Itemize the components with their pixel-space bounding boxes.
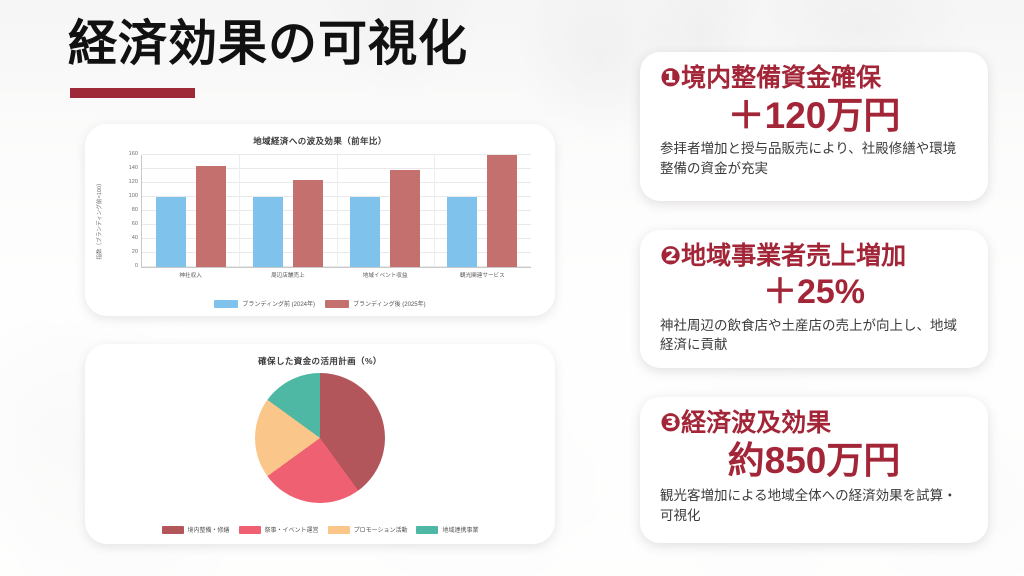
highlight-card-1: ❶境内整備資金確保 ＋120万円 参拝者増加と授与品販売により、社殿修繕や環境整… <box>640 52 988 201</box>
bar-chart-bars: 神社収入周辺店舗売上地域イベント収益観光関連サービス <box>142 155 531 267</box>
bar-group: 神社収入 <box>142 155 239 267</box>
bar-before <box>350 197 380 267</box>
bar-group: 地域イベント収益 <box>337 155 434 267</box>
card-2-heading: ❷地域事業者売上増加 <box>660 242 968 272</box>
card-3-value: 約850万円 <box>660 440 968 481</box>
card-1-description: 参拝者増加と授与品販売により、社殿修繕や環境整備の資金が充実 <box>660 139 968 178</box>
title-underline-rule <box>70 88 195 98</box>
pie-chart-panel: 確保した資金の活用計画（%） 境内整備・修繕祭事・イベント運営プロモーション活動… <box>85 344 555 544</box>
legend-swatch <box>239 526 261 534</box>
bar-group: 観光関連サービス <box>434 155 531 267</box>
y-axis-tick-label: 20 <box>132 249 138 255</box>
y-axis-tick-label: 60 <box>132 221 138 227</box>
card-3-heading: ❸経済波及効果 <box>660 409 968 439</box>
highlight-card-2: ❷地域事業者売上増加 ＋25% 神社周辺の飲食店や土産店の売上が向上し、地域経済… <box>640 230 988 368</box>
y-axis-tick-label: 80 <box>132 207 138 213</box>
card-3-description: 観光客増加による地域全体への経済効果を試算・可視化 <box>660 486 968 525</box>
legend-label: ブランディング前 (2024年) <box>242 299 315 308</box>
legend-label: 祭事・イベント運営 <box>265 525 319 534</box>
legend-label: プロモーション活動 <box>354 525 408 534</box>
highlight-card-3: ❸経済波及効果 約850万円 観光客増加による地域全体への経済効果を試算・可視化 <box>640 397 988 543</box>
legend-swatch <box>214 300 238 308</box>
y-axis-tick-label: 0 <box>135 263 138 269</box>
legend-swatch <box>325 300 349 308</box>
bar-chart-panel: 地域経済への波及効果（前年比） 指数（ブランディング前=100） 0204060… <box>85 124 555 316</box>
legend-label: 境内整備・修繕 <box>188 525 230 534</box>
y-axis-tick-label: 140 <box>129 165 138 171</box>
x-axis-category-label: 神社収入 <box>179 271 201 279</box>
pie-chart-plot-area <box>85 370 555 505</box>
legend-swatch <box>328 526 350 534</box>
bar-after <box>293 180 323 268</box>
bar-after <box>390 170 420 267</box>
bar-chart-legend: ブランディング前 (2024年)ブランディング後 (2025年) <box>85 299 555 308</box>
legend-swatch <box>162 526 184 534</box>
pie-chart-title: 確保した資金の活用計画（%） <box>85 344 555 367</box>
card-2-description: 神社周辺の飲食店や土産店の売上が向上し、地域経済に貢献 <box>660 316 968 355</box>
legend-item: 祭事・イベント運営 <box>239 525 319 534</box>
legend-item: 地域連携事業 <box>416 525 478 534</box>
legend-label: ブランディング後 (2025年) <box>353 299 426 308</box>
legend-swatch <box>416 526 438 534</box>
legend-item: プロモーション活動 <box>328 525 408 534</box>
card-2-value: ＋25% <box>660 273 968 311</box>
slide-canvas: 経済効果の可視化 地域経済への波及効果（前年比） 指数（ブランディング前=100… <box>0 0 1024 576</box>
bar-after <box>487 155 517 267</box>
y-axis-tick-label: 40 <box>132 235 138 241</box>
legend-label: 地域連携事業 <box>442 525 478 534</box>
y-axis-tick-label: 160 <box>129 151 138 157</box>
card-1-value: ＋120万円 <box>660 95 968 136</box>
bar-chart-y-axis-label: 指数（ブランディング前=100） <box>95 180 103 259</box>
bar-chart-axes: 020406080100120140160 神社収入周辺店舗売上地域イベント収益… <box>141 155 531 268</box>
x-axis-category-label: 観光関連サービス <box>460 271 505 279</box>
bar-chart-title: 地域経済への波及効果（前年比） <box>85 124 555 147</box>
legend-item: ブランディング前 (2024年) <box>214 299 315 308</box>
x-axis-category-label: 地域イベント収益 <box>363 271 408 279</box>
y-axis-tick-label: 120 <box>129 179 138 185</box>
bar-group: 周辺店舗売上 <box>239 155 336 267</box>
legend-item: ブランディング後 (2025年) <box>325 299 426 308</box>
bar-before <box>447 197 477 267</box>
legend-item: 境内整備・修繕 <box>162 525 230 534</box>
page-title: 経済効果の可視化 <box>68 14 468 75</box>
bar-after <box>196 166 226 268</box>
y-axis-tick-label: 100 <box>129 193 138 199</box>
card-1-heading: ❶境内整備資金確保 <box>660 64 968 94</box>
x-axis-category-label: 周辺店舗売上 <box>271 271 305 279</box>
pie-chart-legend: 境内整備・修繕祭事・イベント運営プロモーション活動地域連携事業 <box>85 525 555 534</box>
bar-before <box>253 197 283 267</box>
pie-chart-circle <box>255 373 385 503</box>
bar-before <box>156 197 186 267</box>
bar-chart-plot-area: 020406080100120140160 神社収入周辺店舗売上地域イベント収益… <box>141 155 531 268</box>
